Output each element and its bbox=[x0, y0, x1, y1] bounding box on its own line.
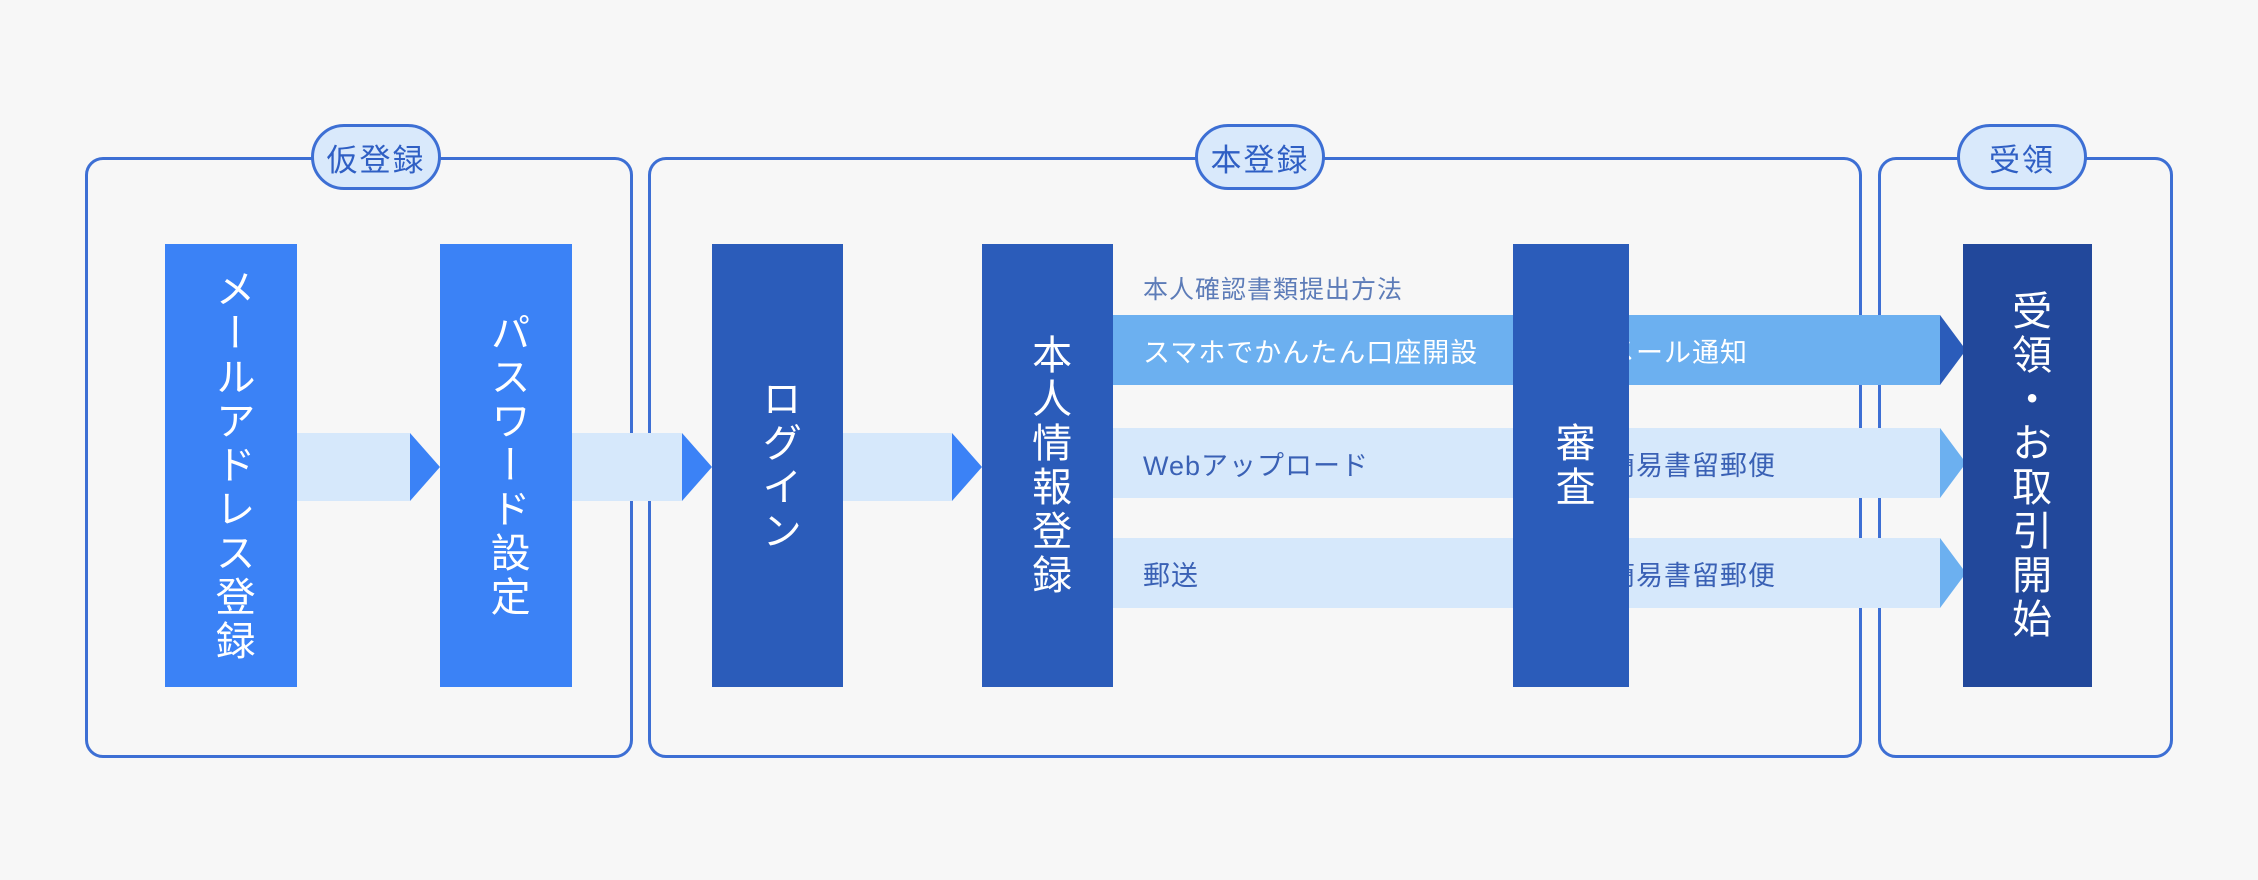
method-band-deliver-smartphone-easy-account-opening: メール通知 bbox=[1578, 315, 1940, 385]
step-label: 審査 bbox=[1547, 422, 1594, 510]
connector-arrowhead bbox=[410, 433, 440, 501]
flow-diagram-canvas: 仮登録 本登録 受領 本人確認書類提出方法 スマホでかんたん口座開設 Webアッ… bbox=[0, 0, 2258, 880]
group-pill-receipt: 受領 bbox=[1957, 124, 2087, 190]
step-label: メールアドレス登録 bbox=[207, 268, 254, 664]
connector-arrowhead bbox=[952, 433, 982, 501]
step-label: パスワード設定 bbox=[482, 312, 529, 620]
step-box-personal-info-registration: 本人情報登録 bbox=[982, 244, 1113, 687]
step-label: 受領・お取引開始 bbox=[2004, 290, 2051, 642]
connector-arrowhead bbox=[682, 433, 712, 501]
group-pill-label: 仮登録 bbox=[327, 135, 426, 180]
method-band-deliver-web-upload: 簡易書留郵便 bbox=[1578, 428, 1940, 498]
method-submit-label: スマホでかんたん口座開設 bbox=[1113, 331, 1478, 370]
step-label: ログイン bbox=[754, 378, 801, 554]
group-pill-temp-registration: 仮登録 bbox=[311, 124, 441, 190]
group-pill-label: 受領 bbox=[1989, 135, 2055, 180]
method-submit-label: 郵送 bbox=[1113, 554, 1199, 593]
step-box-screening: 審査 bbox=[1513, 244, 1629, 687]
method-band-submit-smartphone-easy-account-opening: スマホでかんたん口座開設 bbox=[1113, 315, 1513, 385]
method-submit-label: Webアップロード bbox=[1113, 444, 1369, 483]
step-label: 本人情報登録 bbox=[1024, 334, 1071, 598]
step-box-login: ログイン bbox=[712, 244, 843, 687]
group-pill-main-registration: 本登録 bbox=[1195, 124, 1325, 190]
method-band-deliver-postal-mail: 簡易書留郵便 bbox=[1578, 538, 1940, 608]
step-box-receipt-start-trading: 受領・お取引開始 bbox=[1963, 244, 2092, 687]
method-band-submit-web-upload: Webアップロード bbox=[1113, 428, 1513, 498]
caption-submission-methods: 本人確認書類提出方法 bbox=[1143, 270, 1403, 306]
step-box-email-address-registration: メールアドレス登録 bbox=[165, 244, 297, 687]
step-box-password-setting: パスワード設定 bbox=[440, 244, 572, 687]
group-pill-label: 本登録 bbox=[1211, 135, 1310, 180]
method-band-submit-postal-mail: 郵送 bbox=[1113, 538, 1513, 608]
